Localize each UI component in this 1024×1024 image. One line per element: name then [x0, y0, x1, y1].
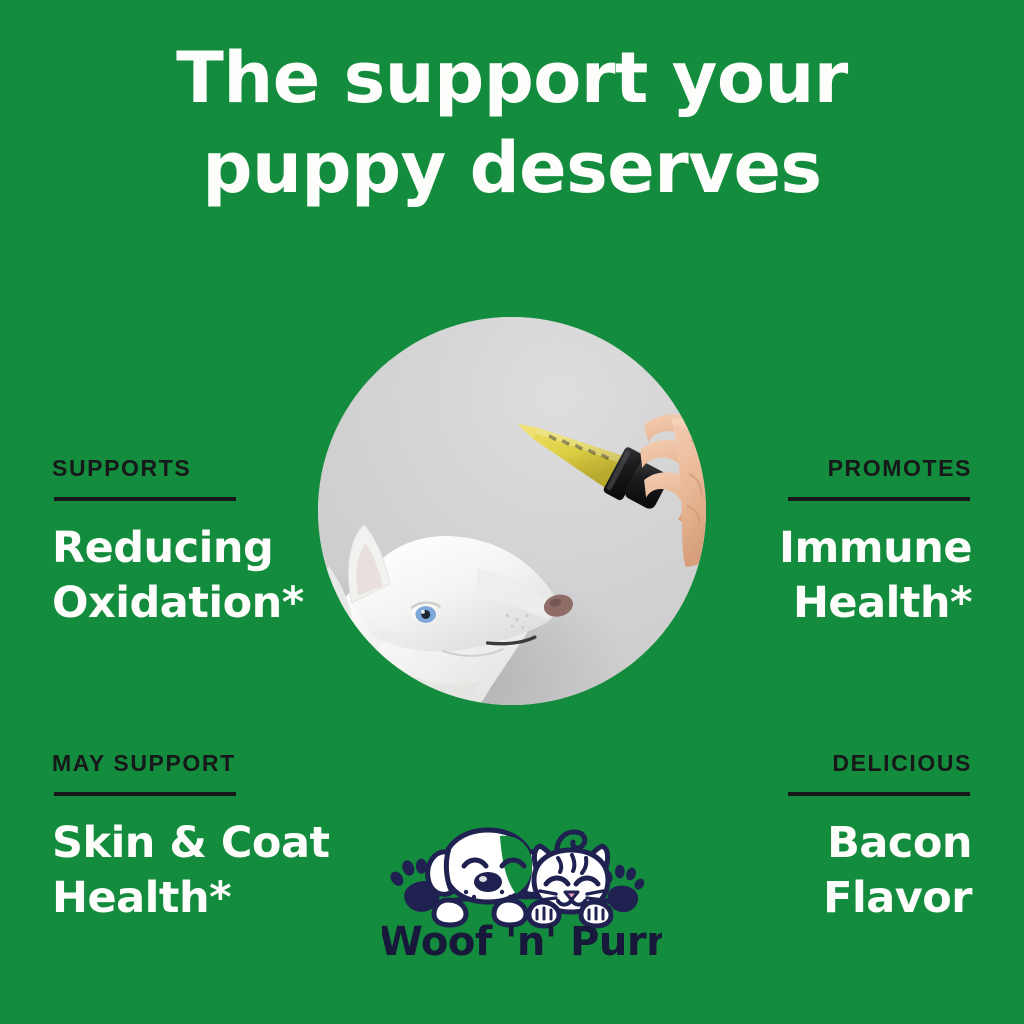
feature-supports-reducing-oxidation: SUPPORTS Reducing Oxidation* — [52, 457, 382, 631]
feature-title-line-1: Immune — [642, 521, 972, 576]
page-title: The support your puppy deserves — [0, 34, 1024, 213]
feature-kicker: PROMOTES — [642, 457, 972, 480]
feature-title-line-1: Skin & Coat — [52, 816, 382, 871]
feature-title-line-1: Bacon — [642, 816, 972, 871]
headline-line-2: puppy deserves — [0, 124, 1024, 214]
feature-may-support-skin-coat-health: MAY SUPPORT Skin & Coat Health* — [52, 752, 382, 926]
headline-line-1: The support your — [0, 34, 1024, 124]
feature-kicker: DELICIOUS — [642, 752, 972, 775]
promo-graphic: The support your puppy deserves — [0, 0, 1024, 1024]
brand-wordmark: Woof 'n' Purr — [382, 919, 662, 962]
feature-title-line-1: Reducing — [52, 521, 382, 576]
feature-title-line-2: Health* — [642, 576, 972, 631]
feature-divider — [788, 497, 970, 501]
brand-logo: Woof 'n' Purr — [382, 822, 662, 962]
feature-title-line-2: Flavor — [642, 871, 972, 926]
feature-title-line-2: Oxidation* — [52, 576, 382, 631]
feature-delicious-bacon-flavor: DELICIOUS Bacon Flavor — [642, 752, 972, 926]
logo-cat-icon — [529, 832, 611, 926]
feature-title-line-2: Health* — [52, 871, 382, 926]
feature-divider — [788, 792, 970, 796]
feature-kicker: SUPPORTS — [52, 457, 382, 480]
feature-promotes-immune-health: PROMOTES Immune Health* — [642, 457, 972, 631]
feature-divider — [54, 497, 236, 501]
feature-kicker: MAY SUPPORT — [52, 752, 382, 775]
feature-divider — [54, 792, 236, 796]
